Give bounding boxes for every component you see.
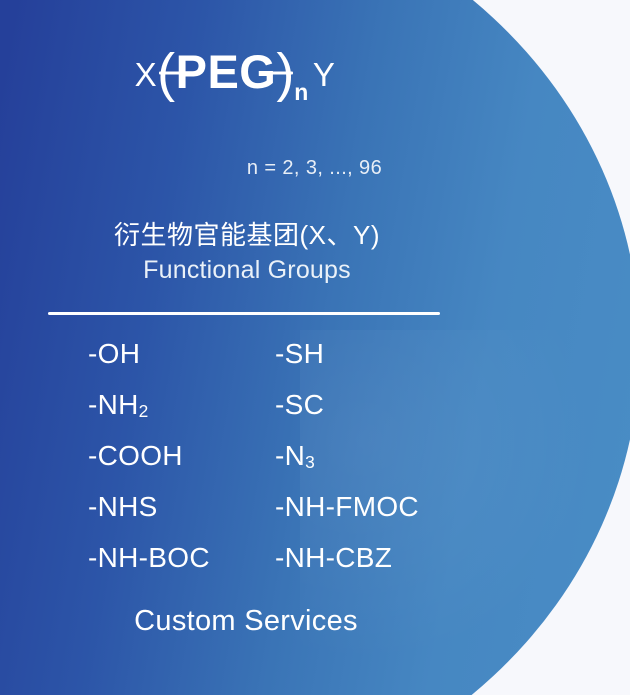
poster-content: X(PEG)nY n = 2, 3, ..., 96 衍生物官能基团(X、Y) …	[0, 0, 630, 695]
group-item: -NH-FMOC	[275, 492, 448, 521]
group-item: -SH	[275, 339, 448, 368]
group-row: -NH-BOC -NH-CBZ	[88, 543, 448, 594]
chemical-formula: X(PEG)nY	[0, 46, 470, 100]
heading-chinese: 衍生物官能基团(X、Y)	[0, 215, 494, 252]
peg-product-poster: X(PEG)nY n = 2, 3, ..., 96 衍生物官能基团(X、Y) …	[0, 0, 630, 695]
close-bracket-bond-bar	[263, 72, 293, 75]
functional-groups-list: -OH -SH -NH2 -SC -COOH -N3 -NHS -NH-FMOC…	[88, 339, 448, 594]
custom-services-label: Custom Services	[0, 605, 492, 638]
formula-open-bracket-icon: (	[157, 46, 175, 100]
group-item: -N3	[275, 441, 448, 470]
group-row: -COOH -N3	[88, 441, 448, 492]
group-row: -OH -SH	[88, 339, 448, 390]
formula-close-bracket-icon: )n	[276, 46, 294, 100]
formula-repeat-unit: PEG	[176, 45, 277, 98]
group-item: -NH-BOC	[88, 543, 275, 572]
group-item: -NH2	[88, 390, 275, 419]
group-row: -NH2 -SC	[88, 390, 448, 441]
group-row: -NHS -NH-FMOC	[88, 492, 448, 543]
group-item: -OH	[88, 339, 275, 368]
group-item: -NH-CBZ	[275, 543, 448, 572]
group-item: -SC	[275, 390, 448, 419]
formula-subscript-n: n	[294, 81, 309, 104]
open-bracket-bond-bar	[159, 72, 189, 75]
group-item: -NHS	[88, 492, 275, 521]
section-divider	[48, 312, 440, 315]
n-range-annotation: n = 2, 3, ..., 96	[0, 157, 629, 180]
formula-suffix-variable: Y	[313, 56, 336, 93]
heading-english: Functional Groups	[0, 256, 494, 285]
formula-prefix-variable: X	[135, 56, 158, 93]
group-item: -COOH	[88, 441, 275, 470]
